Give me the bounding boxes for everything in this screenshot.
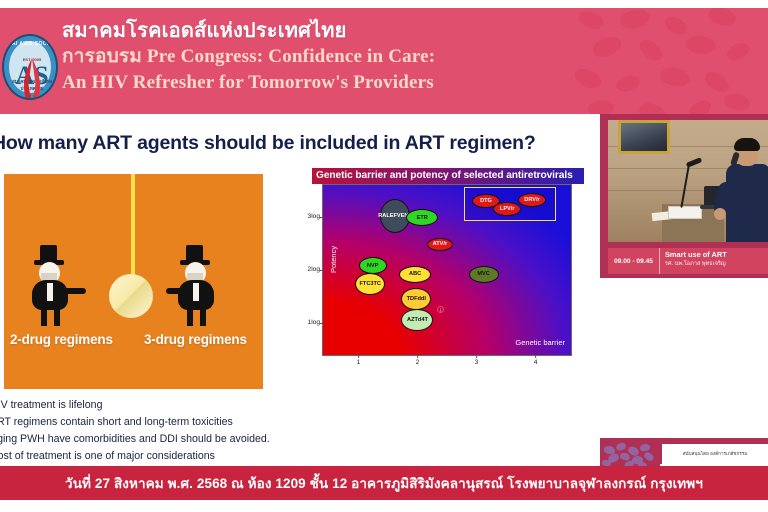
leg-right (54, 306, 60, 326)
tie-shape (193, 283, 199, 301)
person-figure-left (28, 240, 84, 318)
leg-left (41, 306, 47, 326)
chart-bubble-label: DRV/r (524, 197, 539, 203)
top-white-strip (0, 0, 768, 8)
header-title-english: การอบรม Pre Congress: Confidence in Care… (62, 44, 582, 96)
arm-shape (64, 288, 86, 294)
chart-bubble-label: LPV/r (500, 206, 515, 212)
chart-y-axis-label: Potency (329, 246, 338, 273)
chart-title: Genetic barrier and potency of selected … (312, 168, 584, 184)
chart-y-tick: 2log (308, 266, 320, 273)
session-title: Smart use of ART (665, 250, 768, 259)
header-bubble (723, 91, 752, 112)
chart-y-tick: 1log (308, 319, 320, 326)
header-bubble (576, 8, 606, 32)
name-card (668, 206, 702, 219)
arm-shape (166, 288, 188, 294)
header-bubble (706, 8, 737, 28)
chart-bubble-label: d4T (418, 317, 428, 323)
speaker-hair (734, 138, 760, 151)
chart-bubble-label: TDF (407, 296, 418, 302)
header-bubble (702, 68, 732, 96)
person-figure-right (174, 240, 230, 318)
slide-bullet-1: HIV treatment is lifelong (0, 397, 310, 414)
logo-circle: THAI AIDS SOCIETY EST. 2005 AS สมาคมโรคเ… (2, 34, 58, 100)
chart-bubble: NVP (359, 257, 387, 274)
session-info-bar: 09.00 - 09.45 Smart use of ART รศ. นพ.โอ… (608, 248, 768, 274)
header-bubble (636, 100, 668, 114)
header-bubble (587, 99, 614, 114)
footer-text: วันที่ 27 สิงหาคม พ.ศ. 2568 ณ ห้อง 1209 … (65, 472, 703, 494)
sponsor-box: สนับสนุนโดย องค์การเภสัชกรรม (662, 444, 768, 464)
logo-text-top: THAI AIDS SOCIETY (4, 41, 58, 47)
sponsor-bubble (615, 442, 627, 452)
slide-bullet-list: HIV treatment is lifelongART regimens co… (0, 397, 310, 466)
chart-annotation-marker (437, 306, 444, 313)
header-title-thai: สมาคมโรคเอดส์แห่งประเทศไทย (62, 14, 347, 46)
slide-bullet-4: Cost of treatment is one of major consid… (0, 448, 310, 465)
rope-graphic (131, 174, 135, 278)
chart-bubble-label: NVP (367, 263, 379, 269)
label-3-drug-regimens: 3-drug regimens (144, 332, 247, 347)
header-bubble (659, 66, 692, 89)
event-footer-banner: วันที่ 27 สิงหาคม พ.ศ. 2568 ณ ห้อง 1209 … (0, 466, 768, 500)
slide-title: How many ART agents should be included i… (0, 132, 600, 155)
header-bubble (724, 40, 752, 64)
chart-plot-area: Potency Genetic barrier 1log2log3log1234… (322, 184, 572, 356)
header-bubble (590, 33, 624, 60)
header-bubble (614, 73, 641, 94)
sponsor-text: สนับสนุนโดย องค์การเภสัชกรรม (683, 451, 748, 458)
chart-bubble-label: ddI (418, 296, 426, 302)
chart-bubble: MVC (469, 266, 499, 283)
session-speaker-name: รศ. นพ.โอภาส พุทธเจริญ (665, 260, 768, 268)
chart-bubble-label: FTC (360, 281, 371, 287)
chart-bubble: FTC3TC (355, 273, 385, 295)
regimen-illustration: 2-drug regimens 3-drug regimens (4, 174, 263, 389)
leg-left (187, 306, 193, 326)
slide-bullet-3: Aging PWH have comorbidities and DDI sho… (0, 431, 310, 448)
video-frame[interactable] (608, 120, 768, 242)
chart-bubble-label: EFV (390, 213, 401, 219)
picture-canvas (621, 123, 667, 151)
chart-bubble-label: MVC (477, 271, 489, 277)
session-text-group: Smart use of ART รศ. นพ.โอภาส พุทธเจริญ (660, 248, 768, 274)
header-decorative-bubbles (568, 8, 768, 114)
slide-bullet-2: ART regimens contain short and long-term… (0, 414, 310, 431)
chart-bubble: DRV/r (518, 193, 546, 207)
antiretroviral-scatter-chart: Genetic barrier and potency of selected … (300, 168, 585, 386)
chart-bubble-label: ATV/r (433, 241, 448, 247)
right-column-spacer (600, 278, 768, 464)
chart-x-tick: 4 (534, 359, 538, 366)
chart-bubble-label: ETR (417, 215, 428, 221)
chart-bubble-label: DTG (480, 198, 492, 204)
sponsor-bubble-cluster (600, 440, 660, 466)
tie-shape (47, 283, 53, 301)
chart-bubble: ETR (406, 209, 438, 226)
speaker-video-panel[interactable]: 09.00 - 09.45 Smart use of ART รศ. นพ.โอ… (600, 114, 768, 278)
header-bubble (685, 35, 716, 56)
session-time: 09.00 - 09.45 (608, 248, 660, 274)
event-header-banner: THAI AIDS SOCIETY EST. 2005 AS สมาคมโรคเ… (0, 8, 768, 114)
chart-bubble: ATV/r (427, 238, 453, 251)
header-bubble (686, 97, 714, 114)
chart-bubble: AZTd4T (401, 309, 433, 331)
chart-bubble-label: AZT (407, 317, 418, 323)
header-bubble (662, 13, 690, 38)
chart-x-tick: 1 (357, 359, 361, 366)
sponsor-bubble (643, 451, 655, 462)
chart-x-tick: 2 (416, 359, 420, 366)
header-title-line1: การอบรม Pre Congress: Confidence in Care… (62, 44, 582, 70)
red-ribbon-icon (21, 56, 43, 100)
chart-bubble: TDFddI (401, 288, 431, 310)
speaker-hand (714, 208, 726, 220)
footer-white-strip (0, 500, 768, 512)
chart-bubble-label: ABC (409, 271, 421, 277)
chart-x-axis-label: Genetic barrier (515, 338, 565, 347)
chart-bubble-label: 3TC (370, 281, 381, 287)
leg-right (200, 306, 206, 326)
coin-ball-graphic (109, 274, 153, 318)
thai-aids-society-logo: THAI AIDS SOCIETY EST. 2005 AS สมาคมโรคเ… (2, 20, 58, 112)
chart-bubble-label: RAL (378, 213, 390, 219)
chart-x-tick: 3 (475, 359, 479, 366)
header-bubble (619, 8, 652, 30)
header-bubble (636, 36, 666, 65)
chart-y-tick: 3log (308, 213, 320, 220)
header-title-line2: An HIV Refresher for Tomorrow's Provider… (62, 70, 582, 96)
label-2-drug-regimens: 2-drug regimens (10, 332, 113, 347)
sponsor-bubble (639, 443, 650, 452)
framed-picture (618, 120, 670, 154)
screenshot-root: THAI AIDS SOCIETY EST. 2005 AS สมาคมโรคเ… (0, 0, 768, 512)
chart-bubble: ABC (399, 266, 431, 283)
